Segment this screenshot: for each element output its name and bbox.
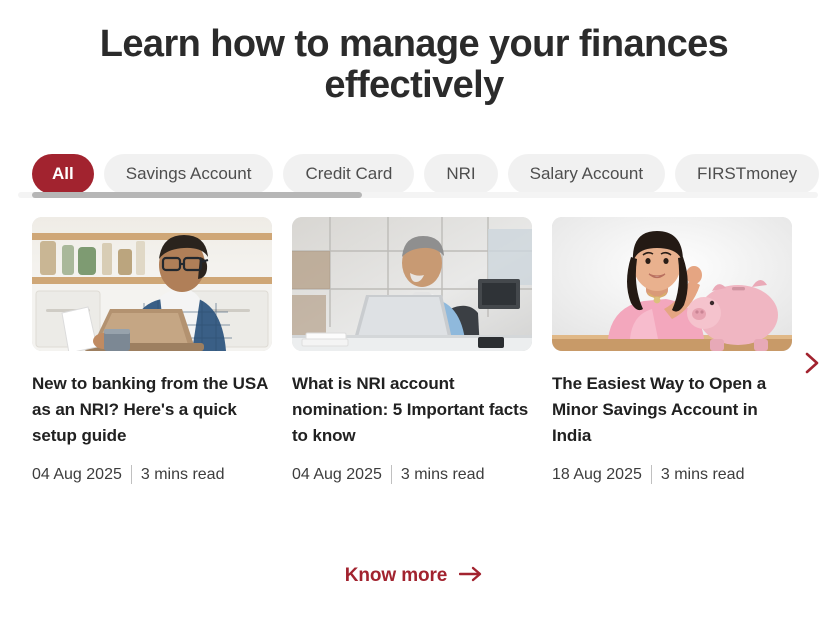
article-card[interactable]: The Easiest Way to Open a Minor Savings … (552, 217, 792, 484)
tab-salary-account[interactable]: Salary Account (508, 154, 665, 194)
article-card-list: New to banking from the USA as an NRI? H… (32, 217, 792, 484)
category-filter-bar[interactable]: All Savings Account Credit Card NRI Sala… (0, 153, 828, 195)
tab-firstmoney[interactable]: FIRSTmoney (675, 154, 819, 194)
tab-firstmoney-label: FIRSTmoney (697, 164, 797, 184)
know-more-label: Know more (345, 565, 448, 587)
tab-salary-account-label: Salary Account (530, 164, 643, 184)
article-date: 04 Aug 2025 (292, 466, 382, 484)
article-date: 18 Aug 2025 (552, 466, 642, 484)
article-meta: 04 Aug 2025 3 mins read (32, 465, 272, 484)
tab-nri-label: NRI (446, 164, 475, 184)
article-meta: 04 Aug 2025 3 mins read (292, 465, 532, 484)
blog-carousel-section: Learn how to manage your finances effect… (0, 0, 828, 621)
article-thumbnail-image (32, 217, 272, 351)
article-date: 04 Aug 2025 (32, 466, 122, 484)
meta-separator (391, 465, 392, 484)
article-meta: 18 Aug 2025 3 mins read (552, 465, 792, 484)
article-title: The Easiest Way to Open a Minor Savings … (552, 371, 792, 449)
tab-nri[interactable]: NRI (424, 154, 497, 194)
tab-credit-card[interactable]: Credit Card (283, 154, 414, 194)
arrow-right-icon (459, 566, 483, 587)
article-read-time: 3 mins read (141, 466, 225, 484)
chevron-right-icon[interactable] (798, 349, 826, 377)
tabs-scrollbar-thumb[interactable] (32, 192, 362, 198)
tab-savings-account-label: Savings Account (126, 164, 252, 184)
tab-savings-account[interactable]: Savings Account (104, 154, 274, 194)
article-read-time: 3 mins read (661, 466, 745, 484)
article-card[interactable]: What is NRI account nomination: 5 Import… (292, 217, 532, 484)
category-filter-list: All Savings Account Credit Card NRI Sala… (0, 153, 828, 195)
article-card[interactable]: New to banking from the USA as an NRI? H… (32, 217, 272, 484)
article-thumbnail-image (292, 217, 532, 351)
know-more-link[interactable]: Know more (0, 565, 828, 587)
article-read-time: 3 mins read (401, 466, 485, 484)
article-title: New to banking from the USA as an NRI? H… (32, 371, 272, 449)
tab-credit-card-label: Credit Card (305, 164, 392, 184)
page-title: Learn how to manage your finances effect… (50, 24, 778, 106)
meta-separator (131, 465, 132, 484)
tab-all-label: All (52, 164, 74, 184)
meta-separator (651, 465, 652, 484)
article-thumbnail-image (552, 217, 792, 351)
article-title: What is NRI account nomination: 5 Import… (292, 371, 532, 449)
tab-all[interactable]: All (32, 154, 94, 194)
